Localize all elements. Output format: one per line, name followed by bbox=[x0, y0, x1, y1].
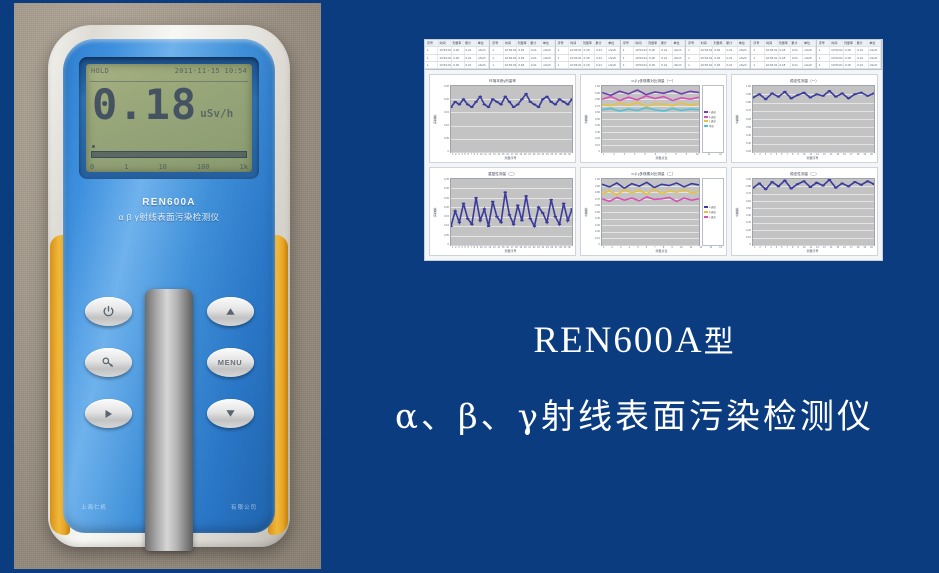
chart-y-tick: 0.20 bbox=[589, 137, 600, 140]
chart-y-tick: 0.15 bbox=[438, 111, 449, 114]
product-model-title: REN600A型 bbox=[330, 320, 939, 363]
table-cell: uSv/h bbox=[542, 62, 554, 68]
table-cell: 0.21 bbox=[856, 47, 868, 53]
chart-plot-area bbox=[752, 85, 875, 153]
chart-y-tick: 0.20 bbox=[438, 98, 449, 101]
chart-y-tick: 0.50 bbox=[740, 207, 751, 210]
chart-legend-swatch bbox=[704, 125, 708, 127]
chart-legend-item: β 通道 bbox=[704, 210, 722, 214]
table-cell: 10:54:01 bbox=[634, 62, 648, 68]
chart-data-point bbox=[770, 92, 774, 94]
chart-title: α β γ多核素对比测量（二） bbox=[583, 172, 724, 177]
chart-data-point bbox=[537, 106, 541, 108]
chart-data-point bbox=[802, 180, 806, 182]
keypad-left-column bbox=[77, 297, 139, 450]
lcd-status-right: 2011-11-15 10:54 bbox=[175, 67, 247, 75]
data-table: 序号时间剂量率累计单位110:54:010.180.21uSv/h110:54:… bbox=[425, 40, 882, 70]
chart-y-ticks: 0.900.800.700.600.500.400.300.200.100 bbox=[740, 178, 752, 246]
chart-y-tick: 0.15 bbox=[438, 215, 449, 218]
measurement-software-screenshot: 序号时间剂量率累计单位110:54:010.180.21uSv/h110:54:… bbox=[424, 39, 883, 261]
chart-y-tick: 0.80 bbox=[589, 191, 600, 194]
chart-data-point bbox=[545, 96, 549, 98]
chart-y-tick: 0.30 bbox=[438, 187, 449, 190]
chart-data-point bbox=[524, 93, 528, 95]
chart-data-point bbox=[474, 197, 478, 199]
chart-data-point bbox=[470, 106, 474, 108]
chart-data-point bbox=[834, 187, 838, 189]
chart-data-point bbox=[777, 185, 781, 187]
chart-y-tick: 1.00 bbox=[589, 85, 600, 88]
chart-legend-label: β 通道 bbox=[709, 210, 716, 214]
chart-y-tick: 0.70 bbox=[740, 109, 751, 112]
table-cell: 0.21 bbox=[465, 55, 477, 61]
chart-data-point bbox=[453, 210, 457, 212]
table-cell: 时间 bbox=[504, 40, 517, 46]
table-cell: 1 bbox=[557, 55, 569, 61]
chart-y-tick: 0.25 bbox=[438, 85, 449, 88]
chart-y-axis-label: 计数率 bbox=[583, 85, 589, 153]
table-cell: 1 bbox=[687, 62, 699, 68]
chart-series-layer bbox=[753, 86, 874, 152]
table-cell: 1 bbox=[557, 62, 569, 68]
table-cell: 剂量率 bbox=[843, 40, 856, 46]
chart-data-point bbox=[474, 101, 478, 103]
chart-y-tick: 0.40 bbox=[589, 124, 600, 127]
chart-data-point bbox=[453, 101, 457, 103]
chart-x-axis-label: 测量点位 bbox=[583, 156, 724, 160]
table-cell: 累计 bbox=[464, 40, 477, 46]
chart-legend-item: β 通道 bbox=[704, 115, 722, 119]
power-button[interactable] bbox=[85, 297, 132, 326]
chart-y-tick: 0.60 bbox=[589, 204, 600, 207]
chart-panel: 重复性测量（二）剂量率0.350.300.250.200.150.100.050… bbox=[429, 167, 576, 256]
chart-y-tick: 0.70 bbox=[589, 105, 600, 108]
table-cell: 0.18 bbox=[452, 47, 464, 53]
table-cell: 序号 bbox=[818, 40, 831, 46]
chart-panel: α β γ多核素对比测量（一）计数率1.000.900.800.700.600.… bbox=[580, 74, 727, 163]
chart-legend-swatch bbox=[704, 111, 708, 113]
chart-y-tick: 0.80 bbox=[740, 185, 751, 188]
table-cell: uSv/h bbox=[477, 62, 489, 68]
chart-series-line bbox=[451, 94, 572, 107]
chart-legend: α 通道β 通道γ 通道 bbox=[702, 178, 724, 246]
chart-data-point bbox=[478, 219, 482, 221]
table-row: 110:54:010.180.21uSv/h bbox=[817, 55, 881, 62]
table-cell: 0.18 bbox=[713, 55, 725, 61]
chart-data-point bbox=[562, 101, 566, 103]
chart-y-ticks: 1.000.900.800.700.600.500.400.300.200.10… bbox=[589, 85, 601, 153]
chart-data-point bbox=[462, 203, 466, 205]
table-cell: 单位 bbox=[542, 40, 555, 46]
chart-data-point bbox=[566, 219, 570, 221]
table-cell: 1 bbox=[818, 47, 830, 53]
table-cell: 累计 bbox=[790, 40, 803, 46]
table-column: 序号时间剂量率累计单位110:54:010.180.21uSv/h110:54:… bbox=[490, 40, 555, 69]
chart-data-point bbox=[859, 92, 863, 94]
table-cell: 时间 bbox=[830, 40, 843, 46]
chart-y-tick: 0.90 bbox=[589, 185, 600, 188]
chart-data-point bbox=[483, 103, 487, 105]
table-row: 110:54:010.180.21uSv/h bbox=[621, 55, 685, 62]
chart-y-tick: 0.60 bbox=[589, 111, 600, 114]
chart-series-line bbox=[602, 96, 699, 101]
chart-y-tick: 0.35 bbox=[438, 178, 449, 181]
table-row: 序号时间剂量率累计单位 bbox=[686, 40, 750, 47]
chart-y-tick: 0.05 bbox=[438, 234, 449, 237]
table-cell: 10:54:01 bbox=[765, 47, 779, 53]
chart-y-axis-label: 剂量率 bbox=[432, 85, 438, 153]
table-cell: 时间 bbox=[635, 40, 648, 46]
chart-gridline bbox=[753, 152, 874, 153]
chart-y-tick: 0.40 bbox=[740, 134, 751, 137]
table-cell: 10:54:01 bbox=[700, 55, 714, 61]
table-cell: 1 bbox=[426, 47, 438, 53]
chart-title: α β γ多核素对比测量（一） bbox=[583, 79, 724, 84]
lcd-tick: 100 bbox=[197, 163, 210, 171]
table-row: 序号时间剂量率累计单位 bbox=[425, 40, 489, 47]
chart-data-point bbox=[533, 103, 537, 105]
table-row: 110:54:010.180.21uSv/h bbox=[425, 47, 489, 54]
chart-data-point bbox=[516, 103, 520, 105]
device-handle-strip bbox=[145, 289, 193, 551]
chart-data-point bbox=[458, 221, 462, 223]
lcd-tick: 0 bbox=[90, 163, 94, 171]
table-cell: 累计 bbox=[529, 40, 542, 46]
chart-data-point bbox=[847, 97, 851, 99]
table-cell: uSv/h bbox=[738, 47, 750, 53]
chart-data-point bbox=[859, 184, 863, 186]
table-row: 序号时间剂量率累计单位 bbox=[751, 40, 815, 47]
chart-data-point bbox=[528, 101, 532, 103]
chart-plot-area bbox=[450, 178, 573, 246]
chart-data-point bbox=[770, 181, 774, 183]
chart-data-point bbox=[541, 98, 545, 100]
chart-y-ticks: 1.000.900.800.700.600.500.400.300.200.10… bbox=[589, 178, 601, 246]
chart-legend-swatch bbox=[704, 116, 708, 118]
chart-legend-swatch bbox=[704, 206, 708, 208]
table-cell: uSv/h bbox=[673, 47, 685, 53]
table-cell: 10:54:01 bbox=[830, 47, 844, 53]
chart-title: 稳定性测量（一） bbox=[734, 79, 875, 84]
lcd-value: 0.18 bbox=[92, 84, 197, 126]
chart-y-axis-label: 剂量率 bbox=[432, 178, 438, 246]
chart-data-point bbox=[821, 95, 825, 97]
chart-data-point bbox=[487, 106, 491, 108]
table-cell: 10:54:01 bbox=[438, 55, 452, 61]
chart-data-point bbox=[796, 183, 800, 185]
lcd-bezel: HOLD 2011-11-15 10:54 0.18 uSv/h 0 1 bbox=[79, 57, 259, 179]
chart-plot-area bbox=[601, 178, 700, 246]
table-cell: 1 bbox=[426, 62, 438, 68]
table-cell: 0.18 bbox=[452, 55, 464, 61]
chart-x-axis-label: 测量序号 bbox=[734, 156, 875, 160]
table-cell: 0.21 bbox=[856, 55, 868, 61]
table-cell: uSv/h bbox=[803, 62, 815, 68]
table-cell: uSv/h bbox=[869, 62, 881, 68]
chart-y-axis-label: 计数率 bbox=[583, 178, 589, 246]
table-cell: 0.18 bbox=[779, 47, 791, 53]
chart-y-tick: 0.90 bbox=[740, 93, 751, 96]
chart-legend-item: γ 通道 bbox=[704, 215, 722, 219]
table-cell: 1 bbox=[752, 62, 764, 68]
chart-y-tick: 0.20 bbox=[589, 230, 600, 233]
table-cell: 0.21 bbox=[530, 55, 542, 61]
menu-button[interactable]: MENU bbox=[207, 348, 254, 377]
product-model-suffix: 型 bbox=[704, 325, 736, 360]
table-row: 110:54:010.180.21uSv/h bbox=[425, 62, 489, 69]
table-cell: 10:54:01 bbox=[634, 47, 648, 53]
chart-legend-item: α 通道 bbox=[704, 110, 722, 114]
table-cell: 序号 bbox=[557, 40, 570, 46]
table-cell: 0.18 bbox=[517, 55, 529, 61]
chart-panel: 稳定性测量（一）计数率1.000.900.800.700.600.500.400… bbox=[731, 74, 878, 163]
table-row: 110:54:010.180.21uSv/h bbox=[751, 62, 815, 69]
chart-data-point bbox=[764, 188, 768, 190]
chart-data-point bbox=[545, 221, 549, 223]
table-cell: uSv/h bbox=[542, 47, 554, 53]
lcd-status-left: HOLD bbox=[91, 67, 109, 75]
chart-data-point bbox=[541, 212, 545, 214]
chart-y-tick: 0.20 bbox=[740, 229, 751, 232]
chart-data-point bbox=[558, 223, 562, 225]
play-icon bbox=[102, 408, 114, 420]
lcd-tick: 1k bbox=[240, 163, 248, 171]
lcd-unit: uSv/h bbox=[200, 107, 233, 120]
radiation-detector-device: HOLD 2011-11-15 10:54 0.18 uSv/h 0 1 bbox=[48, 25, 290, 547]
chart-y-tick: 0.40 bbox=[740, 214, 751, 217]
chart-data-point bbox=[549, 199, 553, 201]
table-cell: uSv/h bbox=[477, 47, 489, 53]
chart-data-point bbox=[520, 219, 524, 221]
table-cell: 0.18 bbox=[648, 62, 660, 68]
table-cell: 单位 bbox=[672, 40, 685, 46]
chart-data-point bbox=[840, 92, 844, 94]
product-description-title: α、β、γ射线表面污染检测仪 bbox=[330, 389, 939, 438]
chart-legend-label: β 通道 bbox=[709, 115, 716, 119]
triangle-down-icon bbox=[224, 408, 237, 419]
lcd-tick: 10 bbox=[158, 163, 166, 171]
chart-y-tick: 0.25 bbox=[438, 197, 449, 200]
chart-y-ticks: 0.350.300.250.200.150.100.050 bbox=[438, 178, 450, 246]
chart-data-point bbox=[524, 195, 528, 197]
table-cell: 0.18 bbox=[844, 47, 856, 53]
table-cell: uSv/h bbox=[607, 62, 619, 68]
chart-x-axis-label: 测量序号 bbox=[432, 249, 573, 253]
keypad-right-column: MENU bbox=[199, 297, 261, 450]
chart-data-point bbox=[866, 95, 870, 97]
table-row: 110:54:010.180.21uSv/h bbox=[817, 47, 881, 54]
lcd-indicator-dot bbox=[92, 145, 95, 148]
table-cell: 剂量率 bbox=[647, 40, 660, 46]
table-cell: 0.21 bbox=[660, 47, 672, 53]
chart-y-tick: 0.70 bbox=[740, 192, 751, 195]
chart-data-point bbox=[495, 101, 499, 103]
chart-y-tick: 0.90 bbox=[589, 92, 600, 95]
table-cell: 0.21 bbox=[595, 47, 607, 53]
chart-plot-area bbox=[450, 85, 573, 153]
table-cell: 单位 bbox=[477, 40, 490, 46]
table-cell: 0.18 bbox=[583, 55, 595, 61]
table-cell: 时间 bbox=[439, 40, 452, 46]
chart-y-axis-label: 计数率 bbox=[734, 178, 740, 246]
chart-title: 环境本底γ剂量率 bbox=[432, 79, 573, 84]
device-footmark-left: 上海仁机 bbox=[81, 503, 107, 511]
chart-series-layer bbox=[451, 179, 572, 245]
chart-data-point bbox=[503, 191, 507, 193]
chart-y-tick: 0.10 bbox=[589, 144, 600, 147]
table-cell: 序号 bbox=[687, 40, 700, 46]
chart-gridline bbox=[753, 245, 874, 246]
chart-data-point bbox=[483, 208, 487, 210]
chart-data-point bbox=[783, 179, 787, 181]
chart-data-point bbox=[777, 96, 781, 98]
chart-data-point bbox=[491, 98, 495, 100]
table-cell: 序号 bbox=[426, 40, 439, 46]
table-row: 110:54:010.180.21uSv/h bbox=[686, 55, 750, 62]
table-row: 110:54:010.180.21uSv/h bbox=[751, 55, 815, 62]
table-cell: uSv/h bbox=[803, 47, 815, 53]
table-cell: 剂量率 bbox=[582, 40, 595, 46]
device-front-panel: HOLD 2011-11-15 10:54 0.18 uSv/h 0 1 bbox=[63, 39, 275, 533]
table-cell: 0.21 bbox=[595, 55, 607, 61]
table-cell: 0.21 bbox=[465, 47, 477, 53]
chart-data-point bbox=[789, 188, 793, 190]
chart-series-line bbox=[451, 192, 572, 226]
chart-series-line bbox=[602, 103, 699, 107]
chart-data-point bbox=[562, 203, 566, 205]
presentation-slide: HOLD 2011-11-15 10:54 0.18 uSv/h 0 1 bbox=[0, 0, 939, 573]
chart-data-point bbox=[537, 206, 541, 208]
table-cell: uSv/h bbox=[607, 55, 619, 61]
chart-y-tick: 0.10 bbox=[438, 224, 449, 227]
table-cell: 10:54:01 bbox=[700, 47, 714, 53]
chart-data-point bbox=[853, 93, 857, 95]
play-button[interactable] bbox=[85, 399, 132, 428]
table-cell: 0.21 bbox=[726, 47, 738, 53]
table-cell: 10:54:01 bbox=[830, 55, 844, 61]
chart-y-tick: 0.50 bbox=[740, 126, 751, 129]
chart-data-point bbox=[487, 225, 491, 227]
chart-legend-item: γ 通道 bbox=[704, 119, 722, 123]
table-cell: uSv/h bbox=[738, 55, 750, 61]
chart-legend-label: 本底 bbox=[709, 124, 714, 128]
table-cell: 0.21 bbox=[660, 55, 672, 61]
chart-y-ticks: 0.250.200.150.100.050 bbox=[438, 85, 450, 153]
table-cell: 时间 bbox=[765, 40, 778, 46]
table-cell: 10:54:01 bbox=[634, 55, 648, 61]
chart-plot-area bbox=[601, 85, 700, 153]
table-cell: 0.21 bbox=[465, 62, 477, 68]
lcd-display: HOLD 2011-11-15 10:54 0.18 uSv/h 0 1 bbox=[86, 64, 252, 172]
title-block: REN600A型 α、β、γ射线表面污染检测仪 bbox=[330, 320, 939, 438]
chart-data-point bbox=[478, 96, 482, 98]
chart-y-tick: 0.10 bbox=[740, 236, 751, 239]
device-model-label: REN600A bbox=[63, 197, 275, 208]
chart-y-tick: 0.30 bbox=[589, 224, 600, 227]
table-cell: 0.18 bbox=[779, 55, 791, 61]
chart-data-point bbox=[789, 97, 793, 99]
table-cell: 剂量率 bbox=[517, 40, 530, 46]
table-cell: 累计 bbox=[660, 40, 673, 46]
down-button[interactable] bbox=[207, 399, 254, 428]
product-model-text: REN600A bbox=[533, 320, 703, 361]
table-column: 序号时间剂量率累计单位110:54:010.180.21uSv/h110:54:… bbox=[686, 40, 751, 69]
chart-y-tick: 0.80 bbox=[589, 98, 600, 101]
table-cell: uSv/h bbox=[738, 62, 750, 68]
lcd-status-row: HOLD 2011-11-15 10:54 bbox=[91, 67, 247, 75]
chart-data-point bbox=[499, 103, 503, 105]
chart-series-line bbox=[602, 90, 699, 95]
chart-gridline bbox=[451, 245, 572, 246]
table-column: 序号时间剂量率累计单位110:54:010.180.21uSv/h110:54:… bbox=[556, 40, 621, 69]
lcd-bargraph bbox=[91, 151, 247, 158]
chart-data-point bbox=[834, 96, 838, 98]
table-cell: uSv/h bbox=[869, 55, 881, 61]
table-cell: 10:54:01 bbox=[569, 55, 583, 61]
table-cell: 0.18 bbox=[844, 62, 856, 68]
chart-grid: 环境本底γ剂量率剂量率0.250.200.150.100.05012345678… bbox=[425, 70, 882, 260]
table-cell: 1 bbox=[491, 55, 503, 61]
table-cell: 0.18 bbox=[583, 62, 595, 68]
chart-data-point bbox=[809, 97, 813, 99]
chart-data-point bbox=[847, 185, 851, 187]
chart-y-tick: 0.20 bbox=[438, 206, 449, 209]
chart-y-tick: 1.00 bbox=[740, 85, 751, 88]
chart-series-line bbox=[602, 197, 699, 202]
chart-y-tick: 0.90 bbox=[740, 178, 751, 181]
table-cell: 1 bbox=[622, 47, 634, 53]
chart-y-tick: 0.10 bbox=[589, 237, 600, 240]
table-cell: uSv/h bbox=[607, 47, 619, 53]
chart-panel: α β γ多核素对比测量（二）计数率1.000.900.800.700.600.… bbox=[580, 167, 727, 256]
up-button[interactable] bbox=[207, 297, 254, 326]
chart-data-point bbox=[783, 91, 787, 93]
chart-y-tick: 0.30 bbox=[740, 221, 751, 224]
table-row: 110:54:010.180.21uSv/h bbox=[817, 62, 881, 69]
chart-legend-item: α 通道 bbox=[704, 205, 722, 209]
table-cell: uSv/h bbox=[869, 47, 881, 53]
chart-y-tick: 0.60 bbox=[740, 200, 751, 203]
chart-data-point bbox=[451, 225, 453, 227]
table-row: 110:54:010.180.21uSv/h bbox=[490, 55, 554, 62]
chart-y-ticks: 1.000.900.800.700.600.500.400.300.20 bbox=[740, 85, 752, 153]
search-button[interactable] bbox=[85, 348, 132, 377]
table-cell: 0.18 bbox=[713, 47, 725, 53]
table-cell: 剂量率 bbox=[712, 40, 725, 46]
chart-data-point bbox=[520, 98, 524, 100]
table-cell: 0.18 bbox=[844, 55, 856, 61]
table-cell: 10:54:01 bbox=[504, 47, 518, 53]
table-column: 序号时间剂量率累计单位110:54:010.180.21uSv/h110:54:… bbox=[621, 40, 686, 69]
chart-legend: α 通道β 通道γ 通道本底 bbox=[702, 85, 724, 153]
chart-legend-swatch bbox=[704, 120, 708, 122]
table-cell: 序号 bbox=[752, 40, 765, 46]
table-cell: 序号 bbox=[622, 40, 635, 46]
chart-data-point bbox=[528, 218, 532, 220]
table-cell: 累计 bbox=[856, 40, 869, 46]
table-row: 110:54:010.180.21uSv/h bbox=[556, 47, 620, 54]
table-cell: 0.21 bbox=[791, 47, 803, 53]
chart-data-point bbox=[553, 103, 557, 105]
chart-y-tick: 0.30 bbox=[740, 142, 751, 145]
table-cell: 0.21 bbox=[856, 62, 868, 68]
chart-data-point bbox=[758, 93, 762, 95]
table-cell: uSv/h bbox=[542, 55, 554, 61]
table-cell: uSv/h bbox=[673, 62, 685, 68]
table-cell: 1 bbox=[491, 47, 503, 53]
lcd-scale-ticks: 0 1 10 100 1k bbox=[90, 163, 248, 171]
chart-legend-swatch bbox=[704, 216, 708, 218]
